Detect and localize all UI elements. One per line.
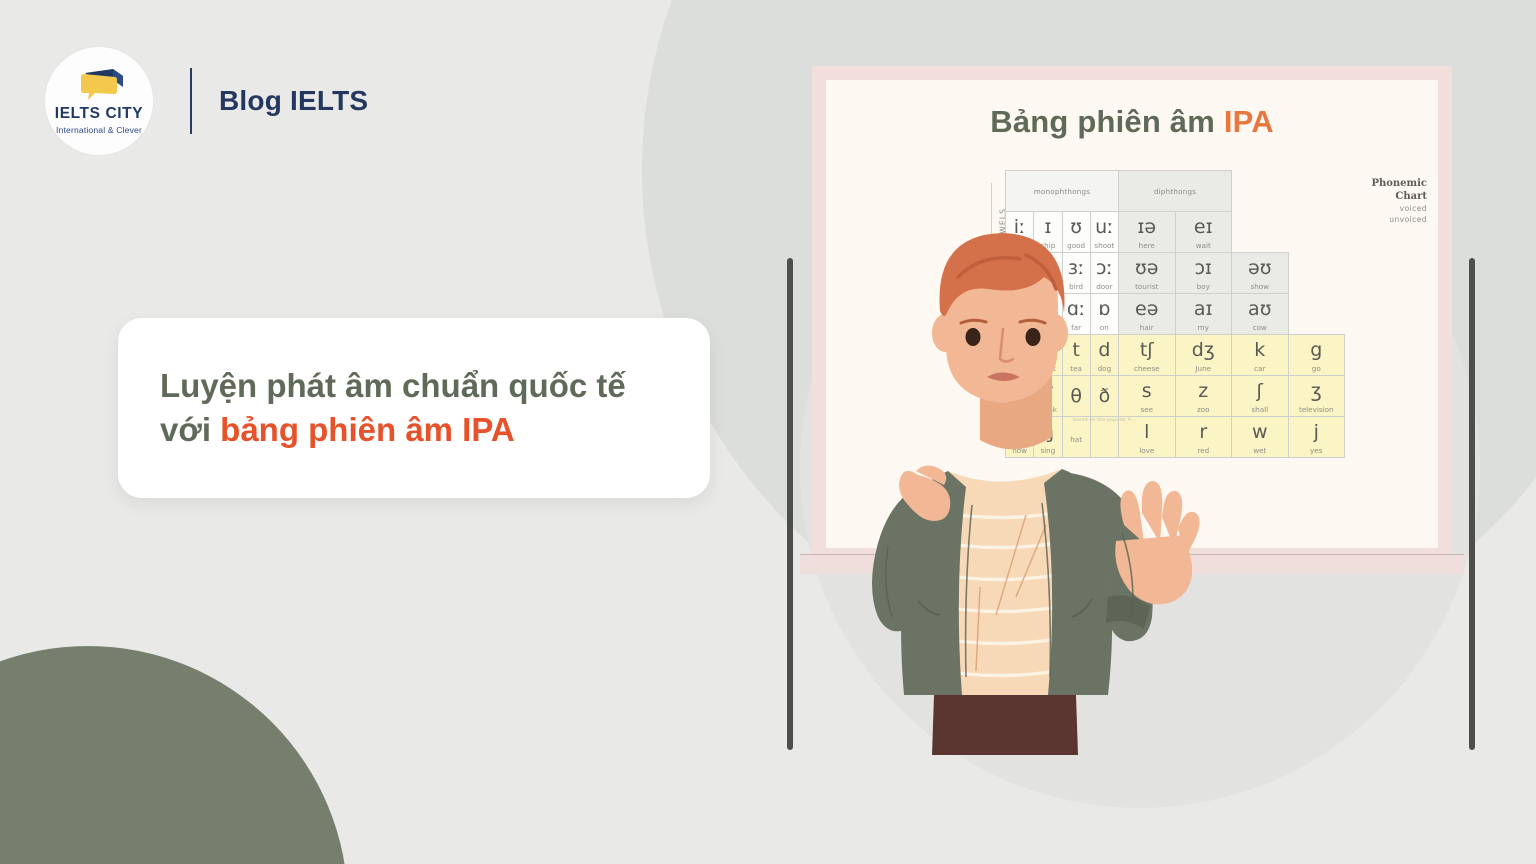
site-header: IELTS CITY International & Clever Blog I… <box>45 47 368 155</box>
chart-cell-show: əʊshow <box>1232 253 1289 294</box>
chart-symbol: j <box>1289 423 1345 442</box>
chart-symbol: ʃ <box>1232 382 1288 401</box>
chart-group-diphthongs: diphthongs <box>1119 171 1232 212</box>
chart-cell-empty <box>1288 212 1345 253</box>
chart-group-monophthongs: monophthongs <box>1006 171 1119 212</box>
chart-cell-shall: ʃshall <box>1232 376 1289 417</box>
chart-cell-television: ʒtelevision <box>1288 376 1345 417</box>
chart-symbol: w <box>1232 423 1288 442</box>
whiteboard-title-main: Bảng phiên âm <box>990 104 1224 139</box>
whiteboard-leg-left <box>787 258 793 750</box>
whiteboard-title-accent: IPA <box>1224 104 1274 139</box>
chart-example-word: go <box>1289 364 1345 373</box>
legend-voiced: voiced <box>1343 203 1427 214</box>
page-title: Blog IELTS <box>219 85 368 117</box>
chart-cell-wet: wwet <box>1232 417 1289 458</box>
legend-unvoiced: unvoiced <box>1343 214 1427 225</box>
chart-symbol: g <box>1289 341 1345 360</box>
chart-symbol: əʊ <box>1232 259 1288 278</box>
chart-example-word: show <box>1232 282 1288 291</box>
headline-line-2-prefix: với <box>160 411 220 448</box>
brand-tagline: International & Clever <box>56 125 142 135</box>
background-circle-bottom-left <box>0 646 348 864</box>
chart-group-header-row: monophthongsdiphthongs <box>1006 171 1345 212</box>
chart-example-word: cow <box>1232 323 1288 332</box>
chart-cell-empty <box>1288 253 1345 294</box>
chart-cell-yes: jyes <box>1288 417 1345 458</box>
man-pointing-illustration <box>830 225 1230 755</box>
chart-group-blank <box>1232 171 1345 212</box>
brand-name: IELTS CITY <box>55 106 143 122</box>
headline-card: Luyện phát âm chuẩn quốc tế với bảng phi… <box>118 318 710 498</box>
chart-symbol: ʒ <box>1289 382 1345 401</box>
book-speech-bubble-icon <box>71 67 127 103</box>
headline-line-2-accent: bảng phiên âm IPA <box>220 411 515 448</box>
headline-line-2: với bảng phiên âm IPA <box>160 408 668 452</box>
chart-cell-cow: aʊcow <box>1232 294 1289 335</box>
chart-example-word: wet <box>1232 446 1288 455</box>
chart-example-word: shall <box>1232 405 1288 414</box>
chart-symbol: aʊ <box>1232 300 1288 319</box>
chart-cell-go: ggo <box>1288 335 1345 376</box>
chart-cell-car: kcar <box>1232 335 1289 376</box>
chart-example-word: television <box>1289 405 1345 414</box>
header-divider <box>190 68 192 134</box>
whiteboard-leg-right <box>1469 258 1475 750</box>
legend-title: Phonemic Chart <box>1343 178 1427 203</box>
chart-example-word: car <box>1232 364 1288 373</box>
chart-example-word: yes <box>1289 446 1345 455</box>
chart-cell-empty <box>1232 212 1289 253</box>
chart-cell-empty <box>1288 294 1345 335</box>
brand-logo[interactable]: IELTS CITY International & Clever <box>45 47 153 155</box>
headline-line-1: Luyện phát âm chuẩn quốc tế <box>160 364 668 408</box>
chart-symbol: k <box>1232 341 1288 360</box>
phonemic-chart-legend: Phonemic Chart voiced unvoiced <box>1343 178 1427 225</box>
whiteboard-title: Bảng phiên âm IPA <box>812 104 1452 140</box>
